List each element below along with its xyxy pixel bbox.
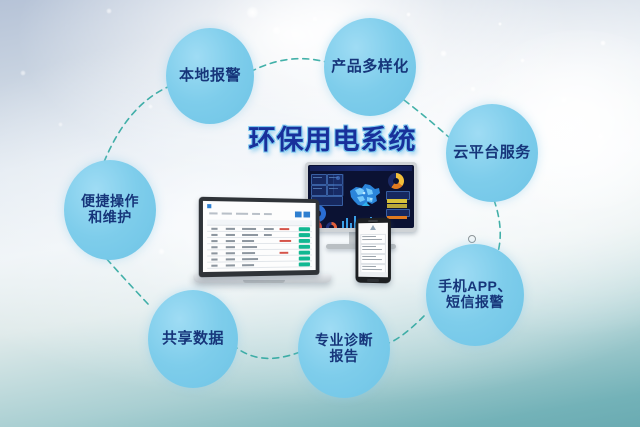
node-label: 云平台服务	[453, 145, 531, 162]
toolbar-line	[222, 213, 232, 215]
smartphone	[355, 218, 390, 284]
node-label: 专业诊断报告	[315, 333, 373, 364]
node-label: 本地报警	[179, 68, 241, 85]
node-label-line: 和维护	[81, 210, 139, 226]
toolbar-line	[236, 213, 248, 215]
node-label-line: 手机APP、	[438, 279, 512, 295]
table-cell-text	[211, 246, 217, 248]
node-easy-operation[interactable]: 便捷操作和维护	[64, 160, 156, 260]
table-cell-alert	[280, 240, 292, 242]
node-label-line: 报告	[315, 349, 373, 365]
table-cell-text	[226, 246, 235, 248]
phone-list-text	[362, 239, 382, 240]
node-cloud-platform[interactable]: 云平台服务	[446, 104, 538, 202]
phone-list-text	[362, 256, 376, 257]
table-cell-text	[211, 234, 217, 236]
status-badge	[299, 227, 310, 230]
phone-home-button[interactable]	[367, 279, 379, 282]
dashboard-donut-hole	[329, 225, 334, 228]
table-cell-text	[242, 246, 257, 248]
phone-bottom-nav[interactable]	[359, 272, 387, 277]
toolbar-line	[252, 213, 260, 215]
dashboard-text-line	[313, 188, 322, 189]
table-cell-text	[264, 228, 274, 230]
dashboard-highlight-bar	[387, 199, 407, 203]
dashboard-bar	[342, 221, 344, 228]
poster-canvas: 环保用电系统	[0, 0, 640, 427]
laptop-table-screen	[203, 201, 316, 272]
phone-app-logo-icon	[368, 225, 378, 231]
dashboard-panel	[311, 185, 327, 196]
node-label: 手机APP、短信报警	[438, 279, 512, 310]
laptop	[199, 197, 320, 278]
page-title: 环保用电系统	[225, 118, 440, 157]
status-badge	[299, 245, 310, 248]
node-label: 共享数据	[162, 331, 224, 348]
table-cell-text	[226, 264, 235, 266]
app-logo-icon	[207, 204, 211, 208]
phone-list-text	[362, 269, 382, 270]
phone-list-text	[362, 246, 376, 247]
status-badge	[299, 256, 310, 260]
node-label: 产品多样化	[331, 59, 409, 76]
phone-app-screen	[358, 223, 388, 278]
node-product-diversity[interactable]: 产品多样化	[324, 18, 416, 116]
secondary-action-button[interactable]	[303, 212, 310, 218]
table-cell-alert	[280, 252, 289, 254]
dashboard-header-bar	[310, 166, 412, 171]
dashboard-bar	[350, 223, 352, 228]
node-label-line: 共享数据	[162, 331, 224, 348]
table-cell-text	[211, 228, 217, 230]
node-label-line: 云平台服务	[453, 145, 531, 162]
node-label-line: 便捷操作	[81, 194, 139, 210]
table-cell-text	[226, 228, 235, 230]
phone-list-text	[362, 236, 376, 237]
node-label-line: 专业诊断	[315, 333, 373, 349]
toolbar-line	[209, 212, 217, 214]
table-cell-text	[242, 258, 258, 260]
node-label: 便捷操作和维护	[81, 194, 139, 225]
node-app-sms-alarm[interactable]: 手机APP、短信报警	[426, 244, 524, 346]
table-cell-text	[211, 240, 217, 242]
node-shared-data[interactable]: 共享数据	[148, 290, 238, 388]
table-cell-text	[242, 252, 255, 254]
dashboard-bar	[346, 218, 348, 228]
table-cell-text	[211, 265, 217, 267]
node-label-line: 本地报警	[179, 68, 241, 85]
primary-action-button[interactable]	[295, 211, 302, 217]
toolbar-line	[264, 213, 272, 215]
dashboard-highlight-bar	[387, 204, 407, 208]
device-cluster	[195, 160, 430, 305]
node-diagnosis-report[interactable]: 专业诊断报告	[298, 300, 390, 398]
table-cell-text	[211, 258, 217, 260]
node-local-alarm[interactable]: 本地报警	[166, 28, 254, 124]
monitor-brand-logo	[468, 235, 476, 243]
dashboard-chip	[336, 176, 340, 180]
table-cell-text	[211, 252, 217, 254]
status-badge	[299, 233, 310, 236]
table-cell-text	[226, 234, 235, 236]
table-cell-text	[242, 234, 258, 236]
status-badge	[299, 262, 310, 266]
dashboard-panel	[311, 174, 327, 185]
phone-list-text	[362, 266, 376, 267]
table-cell-text	[226, 258, 235, 260]
phone-list-text	[362, 249, 382, 250]
node-label-line: 短信报警	[438, 295, 512, 311]
table-cell-text	[242, 264, 254, 266]
table-cell-text	[226, 240, 235, 242]
table-cell-text	[242, 240, 254, 242]
dashboard-alert-bar	[387, 216, 407, 219]
phone-speaker	[368, 220, 378, 222]
status-badge	[299, 251, 310, 255]
table-cell-text	[226, 252, 235, 254]
laptop-front-lip	[243, 280, 285, 283]
dashboard-text-line	[313, 177, 322, 178]
node-label-line: 产品多样化	[331, 59, 409, 76]
table-cell-alert	[280, 228, 290, 230]
table-cell-text	[264, 234, 272, 236]
table-cell-text	[242, 228, 256, 230]
dashboard-radar-hole	[393, 178, 399, 184]
table-row	[207, 261, 312, 269]
status-badge	[299, 239, 310, 242]
china-map-graphic	[344, 177, 384, 213]
phone-list-text	[362, 259, 382, 260]
